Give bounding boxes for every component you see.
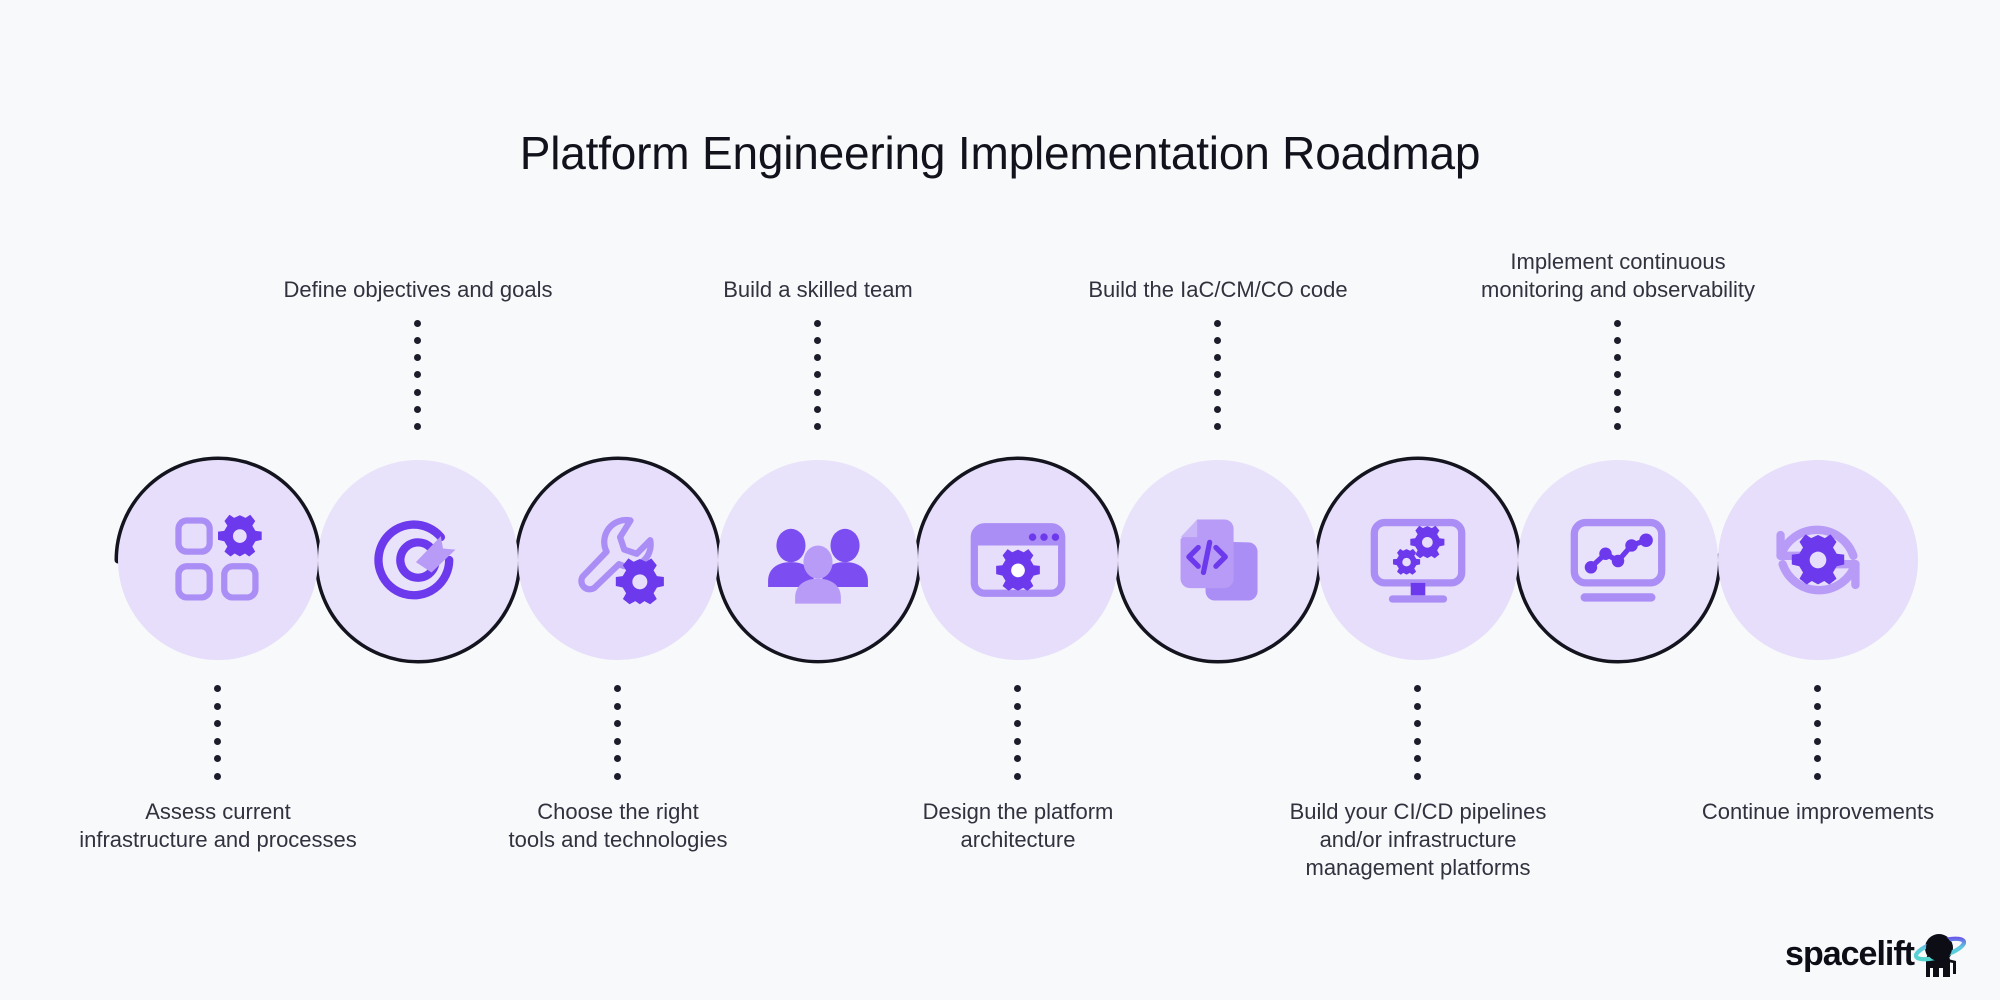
step-label-2: Define objectives and goals [218, 276, 618, 304]
step-label-8: Implement continuousmonitoring and obser… [1418, 248, 1818, 304]
step-label-4: Build a skilled team [618, 276, 1018, 304]
step-label-5: Design the platformarchitecture [818, 798, 1218, 854]
connector-dots-step-3 [614, 685, 621, 780]
dashboard-grid-gear-icon [166, 508, 270, 612]
team-people-icon [766, 508, 870, 612]
wrench-gear-icon [566, 508, 670, 612]
step-node-3[interactable] [518, 460, 718, 660]
step-node-2[interactable] [318, 460, 518, 660]
connector-dots-step-6 [1214, 320, 1221, 430]
step-label-7: Build your CI/CD pipelinesand/or infrast… [1218, 798, 1618, 882]
astronaut-planet-icon [1912, 929, 1966, 979]
browser-window-gear-icon [966, 508, 1070, 612]
connector-dots-step-9 [1814, 685, 1821, 780]
roadmap-stage: Define objectives and goals Build a skil… [0, 0, 2000, 1000]
step-node-4[interactable] [718, 460, 918, 660]
step-node-7[interactable] [1318, 460, 1518, 660]
step-label-9: Continue improvements [1618, 798, 2000, 826]
step-node-5[interactable] [918, 460, 1118, 660]
infographic-canvas: Platform Engineering Implementation Road… [0, 0, 2000, 1000]
connector-dots-step-2 [414, 320, 421, 430]
code-document-icon [1166, 508, 1270, 612]
connector-dots-step-1 [214, 685, 221, 780]
connector-dots-step-5 [1014, 685, 1021, 780]
connector-dots-step-4 [814, 320, 821, 430]
spacelift-logo[interactable]: spacelift [1785, 928, 1966, 980]
step-label-6: Build the IaC/CM/CO code [1018, 276, 1418, 304]
monitor-gears-icon [1366, 508, 1470, 612]
step-node-9[interactable] [1718, 460, 1918, 660]
connector-dots-step-7 [1414, 685, 1421, 780]
step-label-3: Choose the righttools and technologies [418, 798, 818, 854]
logo-wordmark: spacelift [1785, 937, 1914, 971]
refresh-cycle-gear-icon [1766, 508, 1870, 612]
step-node-8[interactable] [1518, 460, 1718, 660]
target-arrow-icon [366, 508, 470, 612]
step-node-6[interactable] [1118, 460, 1318, 660]
step-node-1[interactable] [118, 460, 318, 660]
step-label-1: Assess currentinfrastructure and process… [18, 798, 418, 854]
connector-dots-step-8 [1614, 320, 1621, 430]
monitor-linechart-icon [1566, 508, 1670, 612]
